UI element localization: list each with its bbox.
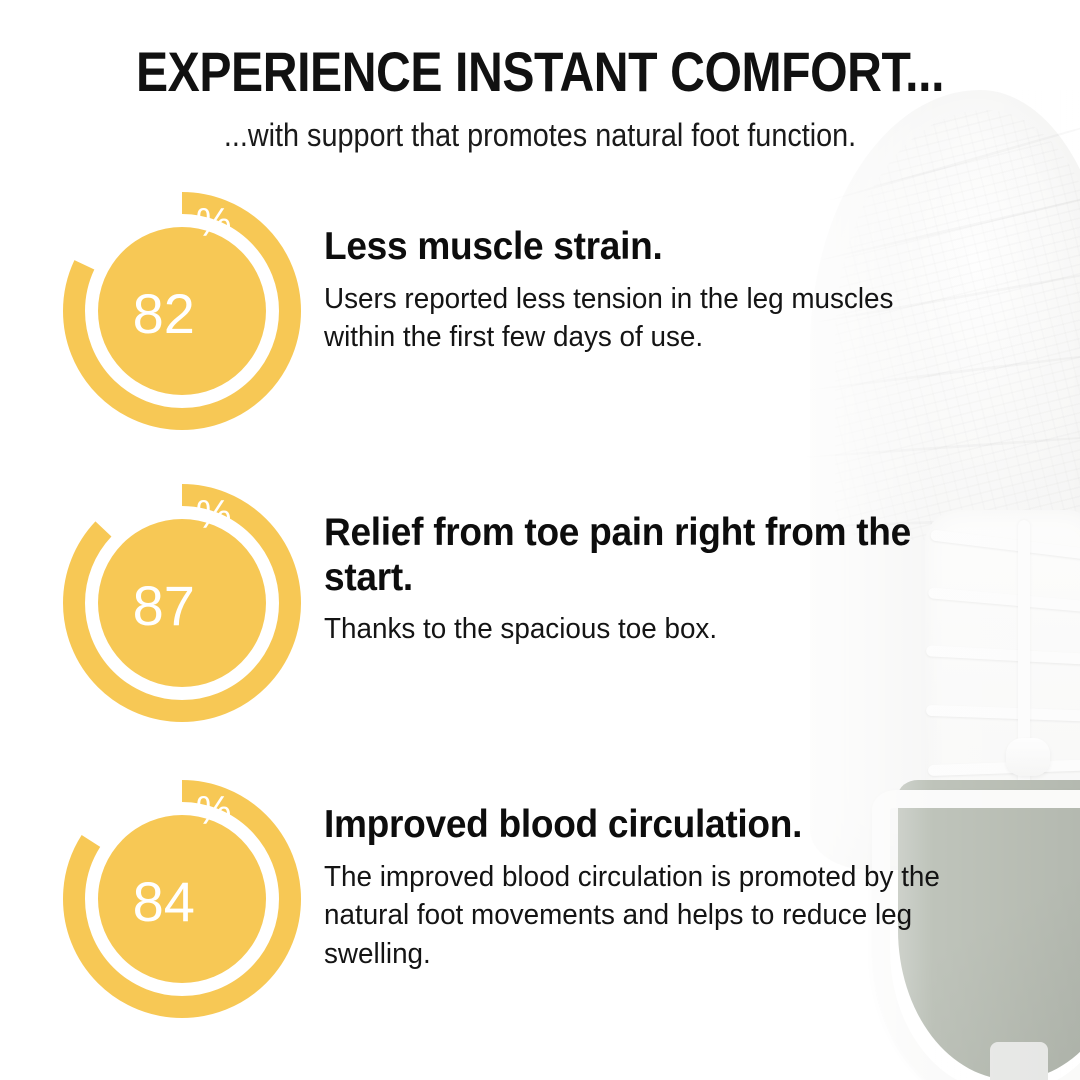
stat-text-block: Less muscle strain. Users reported less … — [302, 191, 1080, 357]
gauge-value-number: 87 — [133, 573, 195, 638]
stat-row: 87% Relief from toe pain right from the … — [0, 483, 1080, 735]
percent-sign: % — [196, 789, 232, 834]
stat-row: 84% Improved blood circulation. The impr… — [0, 779, 1080, 1031]
donut-gauge: 87% — [62, 483, 302, 723]
shoe-heel-tab — [990, 1042, 1048, 1080]
page-subheadline: ...with support that promotes natural fo… — [54, 100, 1026, 153]
stat-list: 82% Less muscle strain. Users reported l… — [0, 191, 1080, 1031]
donut-gauge: 84% — [62, 779, 302, 1019]
stat-text-block: Relief from toe pain right from the star… — [302, 483, 1080, 648]
stat-title: Less muscle strain. — [324, 225, 957, 269]
content-layer: EXPERIENCE INSTANT COMFORT... ...with su… — [0, 0, 1080, 1031]
percent-sign: % — [196, 493, 232, 538]
infographic-canvas: EXPERIENCE INSTANT COMFORT... ...with su… — [0, 0, 1080, 1080]
stat-title: Improved blood circulation. — [324, 803, 957, 847]
stat-row: 82% Less muscle strain. Users reported l… — [0, 191, 1080, 443]
stat-description: Users reported less tension in the leg m… — [324, 280, 963, 357]
gauge-value-label: 87% — [62, 485, 302, 725]
gauge-value-label: 84% — [62, 781, 302, 1021]
page-headline: EXPERIENCE INSTANT COMFORT... — [76, 0, 1005, 100]
gauge-value-number: 82 — [133, 281, 195, 346]
donut-gauge: 82% — [62, 191, 302, 431]
gauge-value-label: 82% — [62, 193, 302, 433]
gauge-value-number: 84 — [133, 869, 195, 934]
stat-description: The improved blood circulation is promot… — [324, 858, 963, 974]
stat-text-block: Improved blood circulation. The improved… — [302, 779, 1080, 973]
stat-description: Thanks to the spacious toe box. — [324, 610, 963, 649]
stat-title: Relief from toe pain right from the star… — [324, 511, 957, 600]
percent-sign: % — [196, 201, 232, 246]
